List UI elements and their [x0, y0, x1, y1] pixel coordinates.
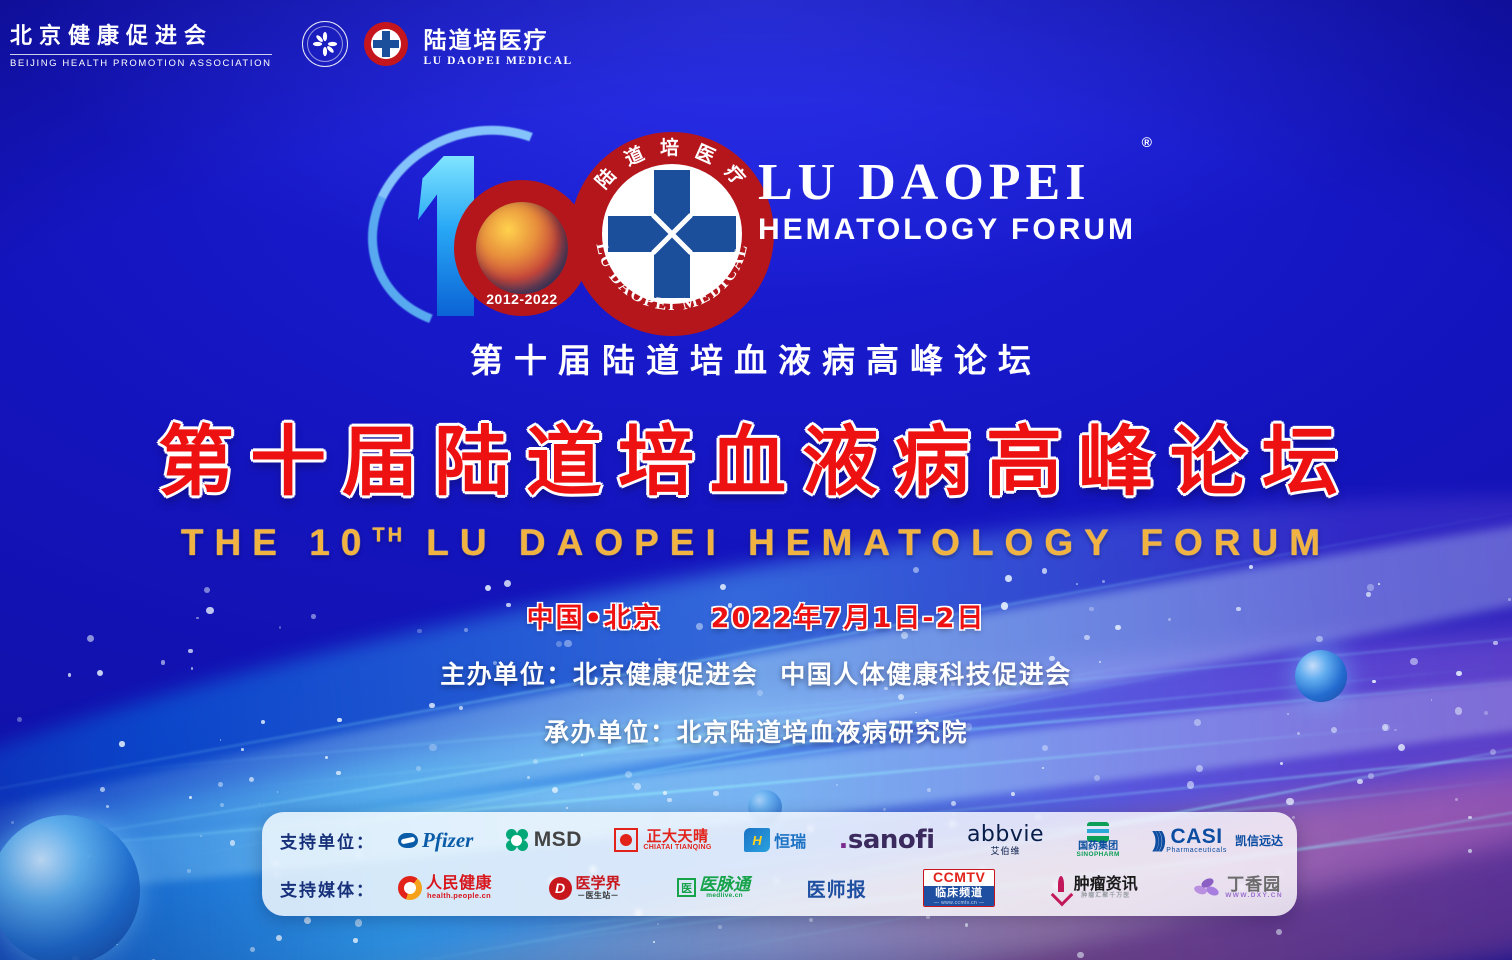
header-logos: 北京健康促进会 BEIJING HEALTH PROMOTION ASSOCIA… [10, 18, 573, 69]
pfizer-label: Pfizer [422, 828, 473, 853]
casi-label: CASI [1170, 826, 1222, 847]
media-logo-yixuejie[interactable]: D 医学界 －医生站－ [549, 867, 621, 909]
media-logo-yishibao[interactable]: 医师报 [807, 867, 867, 909]
particle-dot [564, 640, 571, 647]
forum-emblem: 2012-2022 TH 陆 道 培 医 疗 [0, 118, 1512, 382]
ludaopei-name-en: LU DAOPEI MEDICAL [424, 55, 573, 67]
chiatai-sub: CHIATAI TIANQING [643, 844, 711, 851]
dxy-sub: WWW.DXY.CN [1225, 893, 1283, 900]
particle-dot [634, 783, 641, 790]
particle-dot [1468, 816, 1472, 820]
organizer-label: 承办单位： [544, 718, 677, 747]
msd-mark-icon [506, 829, 528, 851]
event-meta: 中国•北京 2022年7月1日-2日 [0, 596, 1512, 635]
sanofi-label: sanofi [848, 825, 935, 855]
media-logo-medlive[interactable]: 医 医脉通 medlive.cn [677, 867, 750, 909]
bhpa-divider [10, 54, 272, 55]
host-value: 北京健康促进会 [573, 660, 759, 689]
chiatai-mark-icon [614, 828, 638, 852]
sponsor-logo-sanofi[interactable]: .sanofi [839, 819, 935, 861]
particle-dot [1011, 792, 1015, 796]
particle-dot [276, 935, 282, 941]
organizer-block: 主办单位：北京健康促进会中国人体健康科技促进会 承办单位：北京陆道培血液病研究院 [0, 655, 1512, 771]
emblem-brand-text: LU DAOPEI HEMATOLOGY FORUM [758, 158, 1158, 247]
particle-dot [809, 918, 813, 922]
casi-label-cn: 凯信远达 [1235, 832, 1283, 849]
particle-dot [1084, 635, 1090, 641]
media-logos: 人民健康 health.people.cn D 医学界 －医生站－ 医 医脉通 … [392, 867, 1283, 909]
organizer-row-organizer: 承办单位：北京陆道培血液病研究院 [0, 713, 1512, 749]
title-block: 第十届陆道培血液病高峰论坛 THE 10TH LU DAOPEI HEMATOL… [0, 400, 1512, 635]
oncology-news-sub: 肿瘤汇聚千万医 [1081, 893, 1130, 899]
page-title-en: THE 10TH LU DAOPEI HEMATOLOGY FORUM [0, 522, 1512, 564]
particle-dot [11, 821, 14, 824]
ccmtv-sub: 临床频道 [924, 886, 994, 900]
sponsor-logo-chiatai[interactable]: 正大天晴 CHIATAI TIANQING [614, 819, 711, 861]
emblem-graphics: 2012-2022 TH 陆 道 培 医 疗 [356, 118, 1156, 338]
media-logo-people-health[interactable]: 人民健康 health.people.cn [398, 867, 492, 909]
organizer-value: 北京陆道培血液病研究院 [677, 718, 969, 747]
dxy-leaf-icon [1194, 877, 1220, 899]
page-title-cn: 第十届陆道培血液病高峰论坛 [0, 400, 1512, 510]
seal-arc-text: 陆 道 培 医 疗 LU DAOPEI MEDICAL [570, 132, 774, 336]
sinopharm-mark-icon [1087, 822, 1109, 842]
host-value-2: 中国人体健康科技促进会 [780, 660, 1072, 689]
media-row: 支持媒体： 人民健康 health.people.cn D 医学界 －医生站－ … [280, 864, 1283, 912]
sponsor-logo-abbvie[interactable]: abbvie 艾伯维 [967, 819, 1044, 861]
title-en-suffix: LU DAOPEI HEMATOLOGY FORUM [405, 522, 1331, 563]
poster-canvas: 北京健康促进会 BEIJING HEALTH PROMOTION ASSOCIA… [0, 0, 1512, 960]
particle-dot [1292, 816, 1295, 819]
sponsor-logo-casi[interactable]: ))) CASI Pharmaceuticals 凯信远达 [1152, 819, 1283, 861]
particle-dot [1357, 779, 1362, 784]
medlive-sub: medlive.cn [706, 893, 743, 900]
particle-dot [336, 771, 340, 775]
particle-dot [965, 923, 968, 926]
ccmtv-label: CCMTV [924, 870, 994, 885]
sponsor-panel: 支持单位： Pfizer MSD 正大天晴 CHIATAI TIANQING H… [262, 812, 1297, 916]
medlive-mark-icon: 医 [677, 878, 696, 897]
particle-dot [1286, 798, 1293, 805]
sponsor-logo-hengrui[interactable]: H恒瑞 [744, 819, 806, 861]
particle-dot [353, 938, 357, 942]
abbvie-label: abbvie [967, 824, 1044, 846]
chiatai-label: 正大天晴 [646, 829, 708, 844]
event-location: 中国•北京 [527, 603, 662, 634]
supporters-label: 支持单位： [280, 828, 392, 853]
particle-dot [87, 635, 94, 642]
ccmtv-url: — www.ccmtv.cn — [924, 900, 994, 906]
svg-text:LU DAOPEI MEDICAL: LU DAOPEI MEDICAL [592, 241, 751, 314]
people-health-sub: health.people.cn [427, 892, 491, 900]
particle-dot [566, 807, 568, 809]
emblem-brand-line1: LU DAOPEI [758, 158, 1158, 209]
particle-dot [1276, 929, 1282, 935]
particle-dot [187, 869, 191, 873]
title-en-ordinal: TH [372, 525, 405, 547]
yixuejie-mark-icon: D [549, 877, 572, 900]
sponsor-logo-msd[interactable]: MSD [506, 819, 582, 861]
oncology-news-label: 肿瘤资讯 [1074, 877, 1138, 893]
ludaopei-name-cn: 陆道培医疗 [424, 21, 573, 55]
particle-dot [653, 941, 655, 943]
people-health-mark-icon [398, 876, 422, 900]
title-en-prefix: THE 10 [181, 522, 372, 563]
oncology-ribbon-icon [1052, 876, 1069, 900]
sponsor-logo-pfizer[interactable]: Pfizer [398, 819, 473, 861]
particle-dot [883, 808, 886, 811]
media-logo-ccmtv[interactable]: CCMTV 临床频道 — www.ccmtv.cn — [923, 867, 995, 909]
particle-dot [836, 784, 838, 786]
sponsor-logo-sinopharm[interactable]: 国药集团 SINOPHARM [1076, 819, 1119, 861]
dxy-label: 丁香园 [1227, 876, 1281, 893]
medlive-label: 医脉通 [699, 876, 750, 893]
institute-seal-icon [302, 21, 348, 67]
pfizer-mark-icon [398, 833, 418, 848]
supporter-logos: Pfizer MSD 正大天晴 CHIATAI TIANQING H恒瑞 .sa… [392, 819, 1283, 861]
ludaopei-logo-text: 陆道培医疗 LU DAOPEI MEDICAL [424, 21, 573, 67]
event-date: 2022年7月1日-2日 [711, 603, 986, 634]
yishibao-label: 医师报 [807, 875, 867, 902]
msd-label: MSD [534, 828, 582, 852]
particle-dot [218, 782, 223, 787]
particle-dot [200, 835, 202, 837]
casi-sub: Pharmaceuticals [1166, 847, 1227, 854]
hengrui-mark-icon: H [744, 828, 770, 852]
people-health-label: 人民健康 [426, 876, 492, 892]
organizer-row-host: 主办单位：北京健康促进会中国人体健康科技促进会 [0, 655, 1512, 691]
media-logo-oncology-news[interactable]: 肿瘤资讯 肿瘤汇聚千万医 [1052, 867, 1138, 909]
sinopharm-sub: SINOPHARM [1076, 852, 1119, 859]
bhpa-name-en: BEIJING HEALTH PROMOTION ASSOCIATION [10, 58, 272, 69]
particle-dot [230, 840, 235, 845]
yixuejie-label: 医学界 [576, 876, 621, 891]
emblem-brand-cn: 第十届陆道培血液病高峰论坛 [470, 334, 1042, 382]
ludaopei-mark-icon [364, 22, 408, 66]
bhpa-name-cn: 北京健康促进会 [10, 18, 272, 50]
bhpa-logo: 北京健康促进会 BEIJING HEALTH PROMOTION ASSOCIA… [10, 18, 286, 69]
registered-mark: ® [1142, 134, 1152, 150]
particle-dot [1316, 636, 1323, 643]
emblem-brand-line2: HEMATOLOGY FORUM [758, 213, 1158, 247]
supporters-row: 支持单位： Pfizer MSD 正大天晴 CHIATAI TIANQING H… [280, 816, 1283, 864]
hengrui-label: 恒瑞 [774, 828, 806, 852]
particle-dot [220, 803, 224, 807]
particle-dot [1077, 952, 1084, 959]
media-label: 支持媒体： [280, 876, 392, 901]
particle-dot [713, 791, 719, 797]
abbvie-sub: 艾伯维 [990, 847, 1020, 856]
ludaopei-seal-icon: 陆 道 培 医 疗 LU DAOPEI MEDICAL [570, 132, 774, 336]
particle-dot [1368, 773, 1373, 778]
yixuejie-sub: －医生站－ [577, 892, 619, 900]
svg-text:陆 道 培 医 疗: 陆 道 培 医 疗 [591, 136, 754, 193]
media-logo-dxy[interactable]: 丁香园 WWW.DXY.CN [1194, 867, 1283, 909]
casi-mark-icon: ))) [1152, 827, 1162, 853]
host-label: 主办单位： [440, 660, 573, 689]
particle-dot [927, 788, 931, 792]
particle-dot [527, 776, 530, 779]
